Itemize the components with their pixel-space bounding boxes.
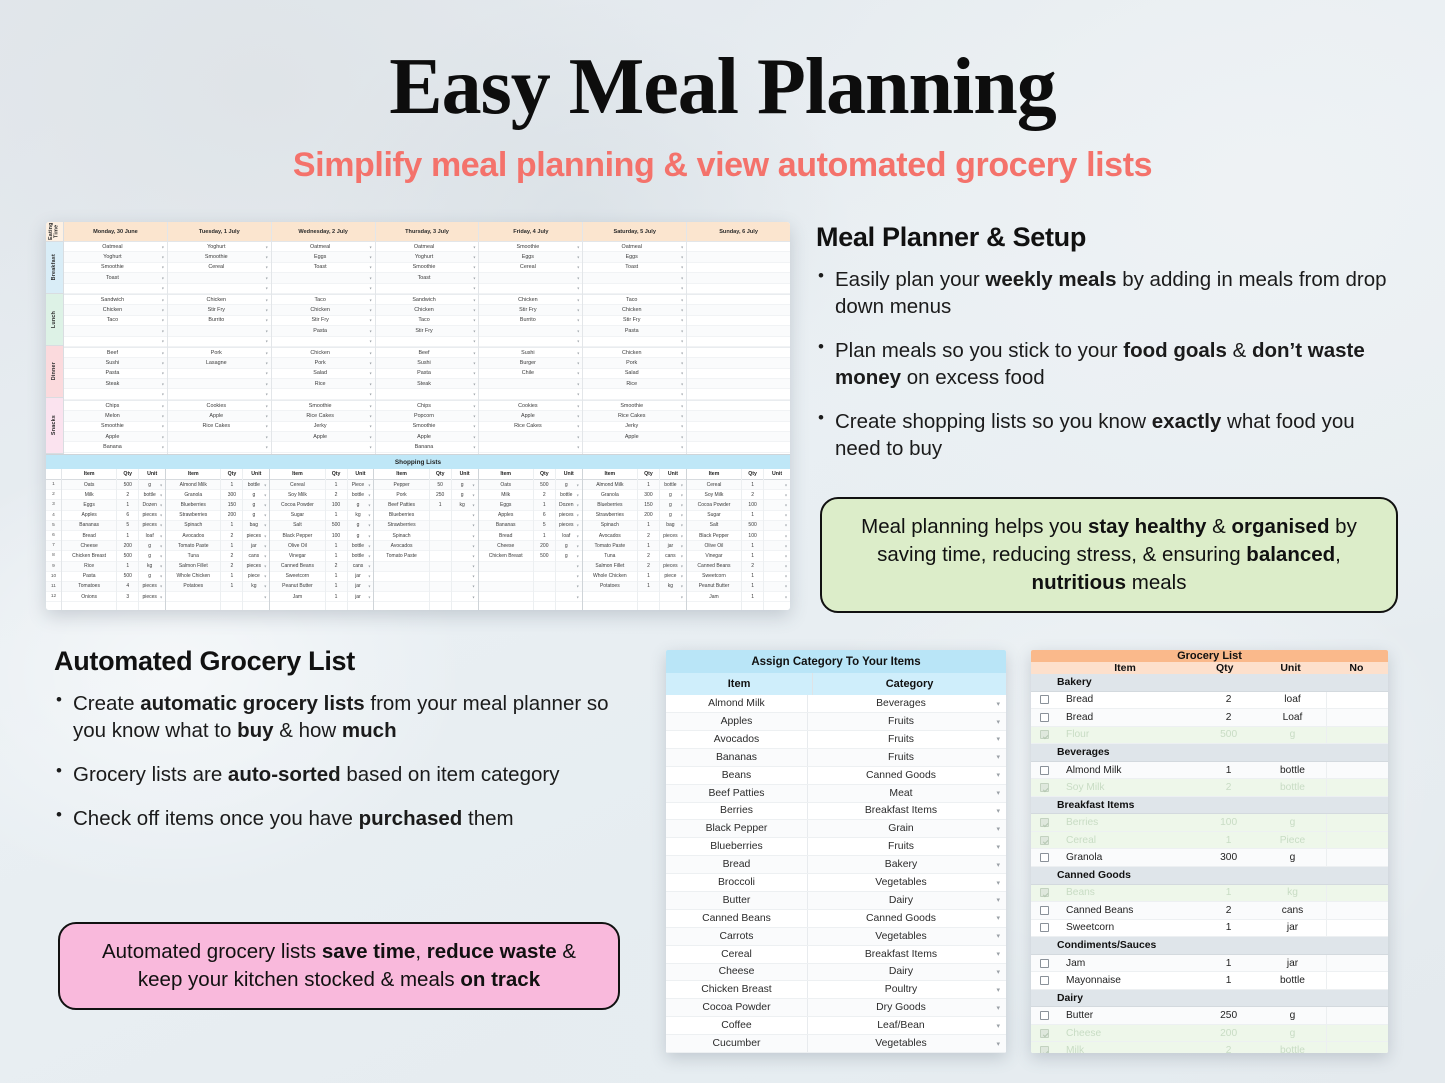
meal-cell[interactable]: ▾ [583,284,686,294]
meal-cell[interactable]: Apple▾ [272,432,375,442]
shopping-list-cell[interactable]: Dozen▾ [556,500,582,510]
category-select[interactable]: Dairy▾ [808,964,1006,981]
checkbox-empty-icon[interactable] [1040,976,1049,985]
shopping-list-cell[interactable]: 200 [117,541,138,551]
shopping-list-cell[interactable]: ▾ [764,480,790,490]
shopping-list-cell[interactable]: cans▾ [243,551,269,561]
shopping-list-cell[interactable]: 50 [430,480,451,490]
chevron-down-icon[interactable]: ▾ [473,308,475,313]
meal-cell[interactable]: ▾ [479,389,582,399]
shopping-list-cell[interactable]: Chicken Breast [479,551,533,561]
chevron-down-icon[interactable]: ▾ [681,265,683,270]
shopping-list-cell[interactable]: bottle▾ [139,490,165,500]
chevron-down-icon[interactable]: ▾ [577,308,579,313]
meal-cell[interactable]: ▾ [376,389,479,399]
chevron-down-icon[interactable]: ▾ [368,584,370,589]
meal-cell[interactable]: Apple▾ [64,432,167,442]
shopping-list-cell[interactable]: Cheese [479,541,533,551]
shopping-list-cell[interactable]: 3 [117,592,138,602]
chevron-down-icon[interactable]: ▾ [473,255,475,260]
chevron-down-icon[interactable]: ▾ [266,371,268,376]
shopping-list-cell[interactable]: g▾ [660,500,686,510]
chevron-down-icon[interactable]: ▾ [577,403,579,408]
shopping-list-cell[interactable]: Sugar [270,511,324,521]
shopping-list-cell[interactable]: g▾ [139,541,165,551]
chevron-down-icon[interactable]: ▾ [681,286,683,291]
shopping-list-cell[interactable]: Chicken Breast [62,551,116,561]
chevron-down-icon[interactable]: ▾ [370,350,372,355]
chevron-down-icon[interactable]: ▾ [473,244,475,249]
checkbox[interactable] [1031,1042,1057,1053]
shopping-list-cell[interactable]: Almond Milk [166,480,220,490]
checkbox[interactable] [1031,832,1057,849]
chevron-down-icon[interactable]: ▾ [681,381,683,386]
shopping-list-cell[interactable]: ▾ [764,592,790,602]
shopping-list-cell[interactable]: g▾ [348,521,374,531]
meal-cell[interactable]: ▾ [168,379,271,389]
meal-cell[interactable]: Yoghurt▾ [64,252,167,262]
chevron-down-icon[interactable]: ▾ [162,413,164,418]
chevron-down-icon[interactable]: ▾ [368,553,370,558]
chevron-down-icon[interactable]: ▾ [577,445,579,450]
shopping-list-cell[interactable]: pieces▾ [660,562,686,572]
meal-cell[interactable]: Eggs▾ [272,252,375,262]
chevron-down-icon[interactable]: ▾ [370,392,372,397]
meal-cell[interactable]: Burger▾ [479,358,582,368]
meal-cell[interactable] [687,316,790,326]
checkbox-empty-icon[interactable] [1040,766,1049,775]
shopping-list-cell[interactable]: pieces▾ [139,521,165,531]
chevron-down-icon[interactable]: ▾ [996,753,1000,761]
category-select[interactable]: Fruits▾ [808,838,1006,855]
meal-cell[interactable]: Salad▾ [272,369,375,379]
chevron-down-icon[interactable]: ▾ [162,297,164,302]
chevron-down-icon[interactable]: ▾ [266,413,268,418]
chevron-down-icon[interactable]: ▾ [370,413,372,418]
meal-cell[interactable]: Smoothie▾ [583,401,686,411]
chevron-down-icon[interactable]: ▾ [996,1022,1000,1030]
chevron-down-icon[interactable]: ▾ [473,392,475,397]
meal-cell[interactable]: Pasta▾ [64,369,167,379]
meal-cell[interactable] [687,379,790,389]
chevron-down-icon[interactable]: ▾ [266,392,268,397]
chevron-down-icon[interactable]: ▾ [681,255,683,260]
chevron-down-icon[interactable]: ▾ [266,308,268,313]
meal-cell[interactable]: Pork▾ [272,358,375,368]
shopping-list-cell[interactable]: jar▾ [660,541,686,551]
chevron-down-icon[interactable]: ▾ [785,482,787,487]
chevron-down-icon[interactable]: ▾ [473,492,475,497]
shopping-list-cell[interactable]: g▾ [452,490,478,500]
shopping-list-cell[interactable]: Avocados [374,541,428,551]
chevron-down-icon[interactable]: ▾ [370,265,372,270]
chevron-down-icon[interactable]: ▾ [370,339,372,344]
meal-cell[interactable] [687,263,790,273]
chevron-down-icon[interactable]: ▾ [577,482,579,487]
shopping-list-cell[interactable]: 1 [534,531,555,541]
shopping-list-cell[interactable]: 1 [534,500,555,510]
chevron-down-icon[interactable]: ▾ [681,371,683,376]
chevron-down-icon[interactable]: ▾ [996,789,1000,797]
chevron-down-icon[interactable]: ▾ [162,350,164,355]
meal-cell[interactable]: Stir Fry▾ [479,305,582,315]
meal-cell[interactable]: Sandwich▾ [376,295,479,305]
meal-cell[interactable]: Toast▾ [583,263,686,273]
shopping-list-cell[interactable] [374,582,428,592]
meal-cell[interactable] [687,411,790,421]
chevron-down-icon[interactable]: ▾ [368,543,370,548]
chevron-down-icon[interactable]: ▾ [681,523,683,528]
shopping-list-cell[interactable]: 1 [117,562,138,572]
chevron-down-icon[interactable]: ▾ [577,318,579,323]
checkbox-empty-icon[interactable] [1040,853,1049,862]
chevron-down-icon[interactable]: ▾ [473,371,475,376]
category-select[interactable]: Dairy▾ [808,892,1006,909]
shopping-list-cell[interactable]: g▾ [660,490,686,500]
shopping-list-cell[interactable]: Beef Patties [374,500,428,510]
chevron-down-icon[interactable]: ▾ [162,308,164,313]
checkbox[interactable] [1031,972,1057,989]
chevron-down-icon[interactable]: ▾ [264,533,266,538]
shopping-list-cell[interactable]: 2 [534,490,555,500]
chevron-down-icon[interactable]: ▾ [473,350,475,355]
meal-cell[interactable]: Apple▾ [479,411,582,421]
shopping-list-cell[interactable]: Strawberries [374,521,428,531]
chevron-down-icon[interactable]: ▾ [577,434,579,439]
meal-cell[interactable]: Pasta▾ [272,326,375,336]
chevron-down-icon[interactable]: ▾ [681,584,683,589]
meal-cell[interactable]: Smoothie▾ [272,401,375,411]
chevron-down-icon[interactable]: ▾ [160,502,162,507]
chevron-down-icon[interactable]: ▾ [996,1040,1000,1048]
meal-cell[interactable]: Beef▾ [376,348,479,358]
meal-cell[interactable]: Burrito▾ [168,316,271,326]
shopping-list-cell[interactable]: kg▾ [660,582,686,592]
chevron-down-icon[interactable]: ▾ [577,564,579,569]
shopping-list-cell[interactable]: 500 [534,551,555,561]
shopping-list-cell[interactable]: ▾ [764,521,790,531]
shopping-list-cell[interactable]: Piece▾ [348,480,374,490]
chevron-down-icon[interactable]: ▾ [370,371,372,376]
chevron-down-icon[interactable]: ▾ [264,584,266,589]
chevron-down-icon[interactable]: ▾ [681,275,683,280]
shopping-list-cell[interactable]: pieces▾ [139,592,165,602]
shopping-list-cell[interactable]: pieces▾ [556,511,582,521]
shopping-list-cell[interactable]: Avocados [583,531,637,541]
meal-cell[interactable] [687,337,790,347]
chevron-down-icon[interactable]: ▾ [266,339,268,344]
meal-cell[interactable]: Stir Fry▾ [272,316,375,326]
chevron-down-icon[interactable]: ▾ [473,328,475,333]
checkbox[interactable] [1031,849,1057,866]
chevron-down-icon[interactable]: ▾ [473,445,475,450]
shopping-list-cell[interactable]: ▾ [764,562,790,572]
chevron-down-icon[interactable]: ▾ [160,564,162,569]
chevron-down-icon[interactable]: ▾ [162,445,164,450]
meal-cell[interactable]: Rice▾ [583,379,686,389]
meal-cell[interactable]: ▾ [168,389,271,399]
shopping-list-cell[interactable]: 1 [117,500,138,510]
shopping-list-cell[interactable]: 1 [326,572,347,582]
category-select[interactable]: Fruits▾ [808,749,1006,766]
chevron-down-icon[interactable]: ▾ [681,594,683,599]
shopping-list-cell[interactable] [583,592,637,602]
shopping-list-cell[interactable]: ▾ [452,582,478,592]
chevron-down-icon[interactable]: ▾ [266,434,268,439]
chevron-down-icon[interactable]: ▾ [681,413,683,418]
chevron-down-icon[interactable]: ▾ [368,492,370,497]
shopping-list-cell[interactable] [430,521,451,531]
chevron-down-icon[interactable]: ▾ [577,339,579,344]
meal-cell[interactable]: Banana▾ [64,442,167,452]
chevron-down-icon[interactable]: ▾ [266,318,268,323]
category-select[interactable]: Poultry▾ [808,981,1006,998]
chevron-down-icon[interactable]: ▾ [473,564,475,569]
meal-cell[interactable]: Rice Cakes▾ [168,422,271,432]
shopping-list-cell[interactable]: ▾ [556,592,582,602]
shopping-list-cell[interactable]: Cheese [62,541,116,551]
meal-cell[interactable]: ▾ [583,389,686,399]
chevron-down-icon[interactable]: ▾ [785,584,787,589]
chevron-down-icon[interactable]: ▾ [370,255,372,260]
shopping-list-cell[interactable]: 500 [534,480,555,490]
chevron-down-icon[interactable]: ▾ [370,328,372,333]
chevron-down-icon[interactable]: ▾ [996,771,1000,779]
meal-cell[interactable]: Popcorn▾ [376,411,479,421]
shopping-list-cell[interactable]: 6 [534,511,555,521]
meal-cell[interactable]: ▾ [168,337,271,347]
shopping-list-cell[interactable]: Bananas [479,521,533,531]
shopping-list-cell[interactable]: Cocoa Powder [270,500,324,510]
chevron-down-icon[interactable]: ▾ [473,297,475,302]
shopping-list-cell[interactable]: 150 [638,500,659,510]
meal-cell[interactable]: Smoothie▾ [168,252,271,262]
shopping-list-cell[interactable] [430,582,451,592]
shopping-list-cell[interactable]: 2 [326,562,347,572]
shopping-list-cell[interactable]: piece▾ [243,572,269,582]
meal-cell[interactable]: Apple▾ [168,411,271,421]
shopping-list-cell[interactable]: Blueberries [583,500,637,510]
chevron-down-icon[interactable]: ▾ [162,328,164,333]
shopping-list-cell[interactable]: bottle▾ [556,490,582,500]
chevron-down-icon[interactable]: ▾ [577,371,579,376]
shopping-list-cell[interactable] [430,531,451,541]
chevron-down-icon[interactable]: ▾ [368,533,370,538]
chevron-down-icon[interactable]: ▾ [264,523,266,528]
chevron-down-icon[interactable]: ▾ [785,523,787,528]
meal-cell[interactable]: Jerky▾ [272,422,375,432]
chevron-down-icon[interactable]: ▾ [473,584,475,589]
chevron-down-icon[interactable]: ▾ [577,574,579,579]
shopping-list-cell[interactable] [374,572,428,582]
shopping-list-cell[interactable]: Vinegar [687,551,741,561]
chevron-down-icon[interactable]: ▾ [681,564,683,569]
shopping-list-cell[interactable]: g▾ [139,480,165,490]
shopping-list-cell[interactable]: ▾ [452,572,478,582]
chevron-down-icon[interactable]: ▾ [160,513,162,518]
chevron-down-icon[interactable]: ▾ [266,360,268,365]
category-select[interactable]: Breakfast Items▾ [808,946,1006,963]
shopping-list-cell[interactable]: Whole Chicken [583,572,637,582]
shopping-list-cell[interactable]: Salmon Fillet [166,562,220,572]
meal-cell[interactable]: ▾ [168,442,271,452]
shopping-list-cell[interactable]: Potatoes [583,582,637,592]
shopping-list-cell[interactable]: 300 [221,490,242,500]
chevron-down-icon[interactable]: ▾ [681,339,683,344]
meal-cell[interactable]: ▾ [583,337,686,347]
shopping-list-cell[interactable]: 1 [326,511,347,521]
meal-cell[interactable]: ▾ [479,432,582,442]
chevron-down-icon[interactable]: ▾ [162,255,164,260]
chevron-down-icon[interactable]: ▾ [162,392,164,397]
category-select[interactable]: Canned Goods▾ [808,910,1006,927]
meal-cell[interactable]: Pasta▾ [376,369,479,379]
meal-cell[interactable]: Smoothie▾ [376,263,479,273]
shopping-list-cell[interactable]: Oats [62,480,116,490]
meal-cell[interactable]: ▾ [479,337,582,347]
shopping-list-cell[interactable]: g▾ [243,490,269,500]
shopping-list-cell[interactable]: 1 [742,592,763,602]
shopping-list-cell[interactable]: jar▾ [348,592,374,602]
chevron-down-icon[interactable]: ▾ [577,584,579,589]
shopping-list-cell[interactable]: 2 [221,551,242,561]
shopping-list-cell[interactable]: ▾ [764,531,790,541]
checkbox-empty-icon[interactable] [1040,695,1049,704]
meal-cell[interactable]: Banana▾ [376,442,479,452]
meal-cell[interactable]: Chicken▾ [168,295,271,305]
chevron-down-icon[interactable]: ▾ [996,932,1000,940]
meal-cell[interactable]: Stir Fry▾ [583,316,686,326]
chevron-down-icon[interactable]: ▾ [681,502,683,507]
shopping-list-cell[interactable]: Canned Beans [687,562,741,572]
shopping-list-cell[interactable]: Spinach [166,521,220,531]
meal-cell[interactable]: ▾ [583,273,686,283]
meal-cell[interactable]: Toast▾ [64,273,167,283]
shopping-list-cell[interactable]: 2 [638,551,659,561]
chevron-down-icon[interactable]: ▾ [266,297,268,302]
meal-cell[interactable]: ▾ [272,389,375,399]
chevron-down-icon[interactable]: ▾ [370,286,372,291]
chevron-down-icon[interactable]: ▾ [160,533,162,538]
meal-cell[interactable]: ▾ [272,284,375,294]
meal-cell[interactable]: Yoghurt▾ [376,252,479,262]
shopping-list-cell[interactable]: Jam [687,592,741,602]
chevron-down-icon[interactable]: ▾ [473,318,475,323]
category-select[interactable]: Fruits▾ [808,731,1006,748]
shopping-list-cell[interactable]: 500 [117,551,138,561]
shopping-list-cell[interactable]: 1 [742,480,763,490]
shopping-list-cell[interactable] [430,592,451,602]
chevron-down-icon[interactable]: ▾ [577,392,579,397]
meal-cell[interactable]: Rice Cakes▾ [583,411,686,421]
meal-cell[interactable]: ▾ [479,326,582,336]
chevron-down-icon[interactable]: ▾ [473,413,475,418]
shopping-list-cell[interactable]: Jam [270,592,324,602]
shopping-list-cell[interactable]: ▾ [764,551,790,561]
meal-cell[interactable] [687,432,790,442]
meal-cell[interactable]: Taco▾ [272,295,375,305]
meal-cell[interactable]: Cookies▾ [479,401,582,411]
chevron-down-icon[interactable]: ▾ [785,574,787,579]
chevron-down-icon[interactable]: ▾ [681,297,683,302]
shopping-list-cell[interactable]: 500 [742,521,763,531]
meal-cell[interactable]: Sushi▾ [376,358,479,368]
shopping-list-cell[interactable]: cans▾ [660,551,686,561]
chevron-down-icon[interactable]: ▾ [264,564,266,569]
shopping-list-cell[interactable]: 100 [742,500,763,510]
shopping-list-cell[interactable]: g▾ [243,511,269,521]
chevron-down-icon[interactable]: ▾ [370,424,372,429]
chevron-down-icon[interactable]: ▾ [266,445,268,450]
shopping-list-cell[interactable]: 1 [638,582,659,592]
checkbox-checked-icon[interactable] [1040,836,1049,845]
chevron-down-icon[interactable]: ▾ [162,286,164,291]
meal-cell[interactable]: Taco▾ [376,316,479,326]
meal-cell[interactable]: ▾ [583,442,686,452]
shopping-list-cell[interactable]: Granola [583,490,637,500]
shopping-list-cell[interactable]: ▾ [764,572,790,582]
chevron-down-icon[interactable]: ▾ [996,879,1000,887]
chevron-down-icon[interactable]: ▾ [577,328,579,333]
meal-cell[interactable]: ▾ [64,284,167,294]
shopping-list-cell[interactable]: Bananas [62,521,116,531]
shopping-list-cell[interactable]: Milk [62,490,116,500]
meal-cell[interactable]: Stir Fry▾ [376,326,479,336]
chevron-down-icon[interactable]: ▾ [785,502,787,507]
shopping-list-cell[interactable]: jar▾ [348,572,374,582]
shopping-list-cell[interactable]: Potatoes [166,582,220,592]
shopping-list-cell[interactable]: ▾ [556,582,582,592]
shopping-list-cell[interactable]: 5 [117,521,138,531]
chevron-down-icon[interactable]: ▾ [368,564,370,569]
shopping-list-cell[interactable]: 1 [221,541,242,551]
shopping-list-cell[interactable]: bag▾ [243,521,269,531]
chevron-down-icon[interactable]: ▾ [370,434,372,439]
meal-cell[interactable] [687,273,790,283]
category-select[interactable]: Fruits▾ [808,713,1006,730]
meal-cell[interactable]: Chicken▾ [64,305,167,315]
chevron-down-icon[interactable]: ▾ [577,553,579,558]
shopping-list-cell[interactable]: 1 [117,531,138,541]
meal-cell[interactable]: Lasagne▾ [168,358,271,368]
shopping-list-cell[interactable]: Soy Milk [687,490,741,500]
shopping-list-cell[interactable]: g▾ [139,572,165,582]
chevron-down-icon[interactable]: ▾ [368,513,370,518]
meal-cell[interactable]: Steak▾ [376,379,479,389]
category-select[interactable]: Bakery▾ [808,856,1006,873]
checkbox-checked-icon[interactable] [1040,730,1049,739]
chevron-down-icon[interactable]: ▾ [785,543,787,548]
shopping-list-cell[interactable]: ▾ [452,531,478,541]
meal-cell[interactable] [687,348,790,358]
shopping-list-cell[interactable]: Almond Milk [583,480,637,490]
meal-cell[interactable]: Eggs▾ [479,252,582,262]
shopping-list-cell[interactable]: 1 [221,480,242,490]
category-select[interactable]: Leaf/Bean▾ [808,1017,1006,1034]
meal-cell[interactable] [687,284,790,294]
shopping-list-cell[interactable]: kg▾ [452,500,478,510]
chevron-down-icon[interactable]: ▾ [162,318,164,323]
shopping-list-cell[interactable]: 300 [638,490,659,500]
shopping-list-cell[interactable]: ▾ [764,582,790,592]
shopping-list-cell[interactable] [166,592,220,602]
meal-cell[interactable] [687,326,790,336]
shopping-list-cell[interactable]: Avocados [166,531,220,541]
shopping-list-cell[interactable]: g▾ [348,500,374,510]
chevron-down-icon[interactable]: ▾ [264,594,266,599]
shopping-list-cell[interactable]: 250 [430,490,451,500]
meal-cell[interactable]: ▾ [376,284,479,294]
